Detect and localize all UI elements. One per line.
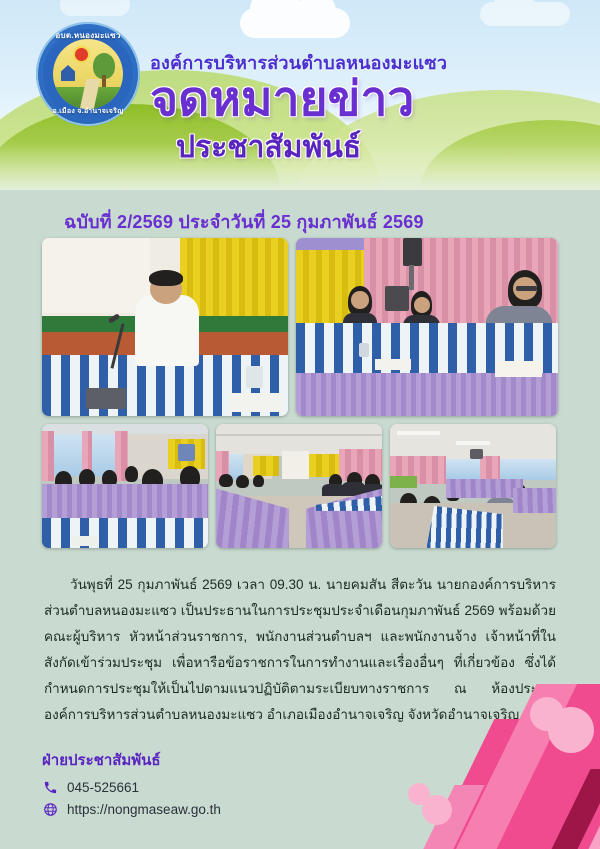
photo-3-scene bbox=[42, 424, 208, 548]
issue-line: ฉบับที่ 2/2569 ประจำวันที่ 25 กุมภาพันธ์… bbox=[64, 207, 424, 236]
footer-contact: ฝ่ายประชาสัมพันธ์ 045-525661 https://non… bbox=[42, 748, 372, 818]
footer-website-row: https://nongmaseaw.go.th bbox=[42, 801, 372, 818]
logo-temple-icon bbox=[61, 65, 75, 81]
photo-row-top bbox=[42, 238, 558, 416]
photo-row-bottom bbox=[42, 424, 558, 548]
photo-1 bbox=[42, 238, 288, 416]
photo-1-scene bbox=[42, 238, 288, 416]
logo-sun-icon bbox=[75, 48, 88, 61]
logo-text-top: อบต.หนองมะแซว bbox=[36, 29, 140, 42]
page-subtitle: ประชาสัมพันธ์ bbox=[176, 133, 576, 163]
phone-icon bbox=[42, 779, 59, 796]
deco-bar bbox=[402, 719, 541, 849]
newsletter-poster: อบต.หนองมะแซว อ.เมือง จ.อำนาจเจริญ องค์ก… bbox=[0, 0, 600, 849]
photo-4-scene bbox=[216, 424, 382, 548]
footer-phone-row: 045-525661 bbox=[42, 779, 372, 796]
cloud-icon bbox=[480, 2, 570, 26]
cloud-icon bbox=[60, 0, 130, 16]
logo-inner-scene bbox=[53, 39, 123, 109]
photo-5-scene bbox=[390, 424, 556, 548]
photo-5 bbox=[390, 424, 556, 548]
article-paragraph: วันพุธที่ 25 กุมภาพันธ์ 2569 เวลา 09.30 … bbox=[44, 572, 556, 728]
logo-text-bottom: อ.เมือง จ.อำนาจเจริญ bbox=[36, 106, 140, 117]
page-title: จดหมายข่าว bbox=[150, 76, 550, 124]
deco-circle bbox=[408, 783, 430, 805]
deco-bar bbox=[517, 769, 600, 849]
photo-2-scene bbox=[296, 238, 558, 416]
photo-2 bbox=[296, 238, 558, 416]
deco-bar bbox=[555, 709, 600, 849]
footer-phone-number[interactable]: 045-525661 bbox=[67, 780, 139, 795]
deco-bar bbox=[381, 785, 484, 849]
footer-title: ฝ่ายประชาสัมพันธ์ bbox=[42, 748, 372, 772]
cloud-icon bbox=[240, 8, 350, 38]
deco-circle bbox=[422, 795, 452, 825]
organization-logo: อบต.หนองมะแซว อ.เมือง จ.อำนาจเจริญ bbox=[36, 22, 140, 126]
footer-website-url[interactable]: https://nongmaseaw.go.th bbox=[67, 802, 221, 817]
logo-trunk-icon bbox=[102, 75, 106, 87]
poster-header: อบต.หนองมะแซว อ.เมือง จ.อำนาจเจริญ องค์ก… bbox=[0, 0, 600, 190]
photo-gallery bbox=[42, 238, 558, 548]
photo-4 bbox=[216, 424, 382, 548]
globe-icon bbox=[42, 801, 59, 818]
article-body: วันพุธที่ 25 กุมภาพันธ์ 2569 เวลา 09.30 … bbox=[44, 572, 556, 728]
photo-3 bbox=[42, 424, 208, 548]
